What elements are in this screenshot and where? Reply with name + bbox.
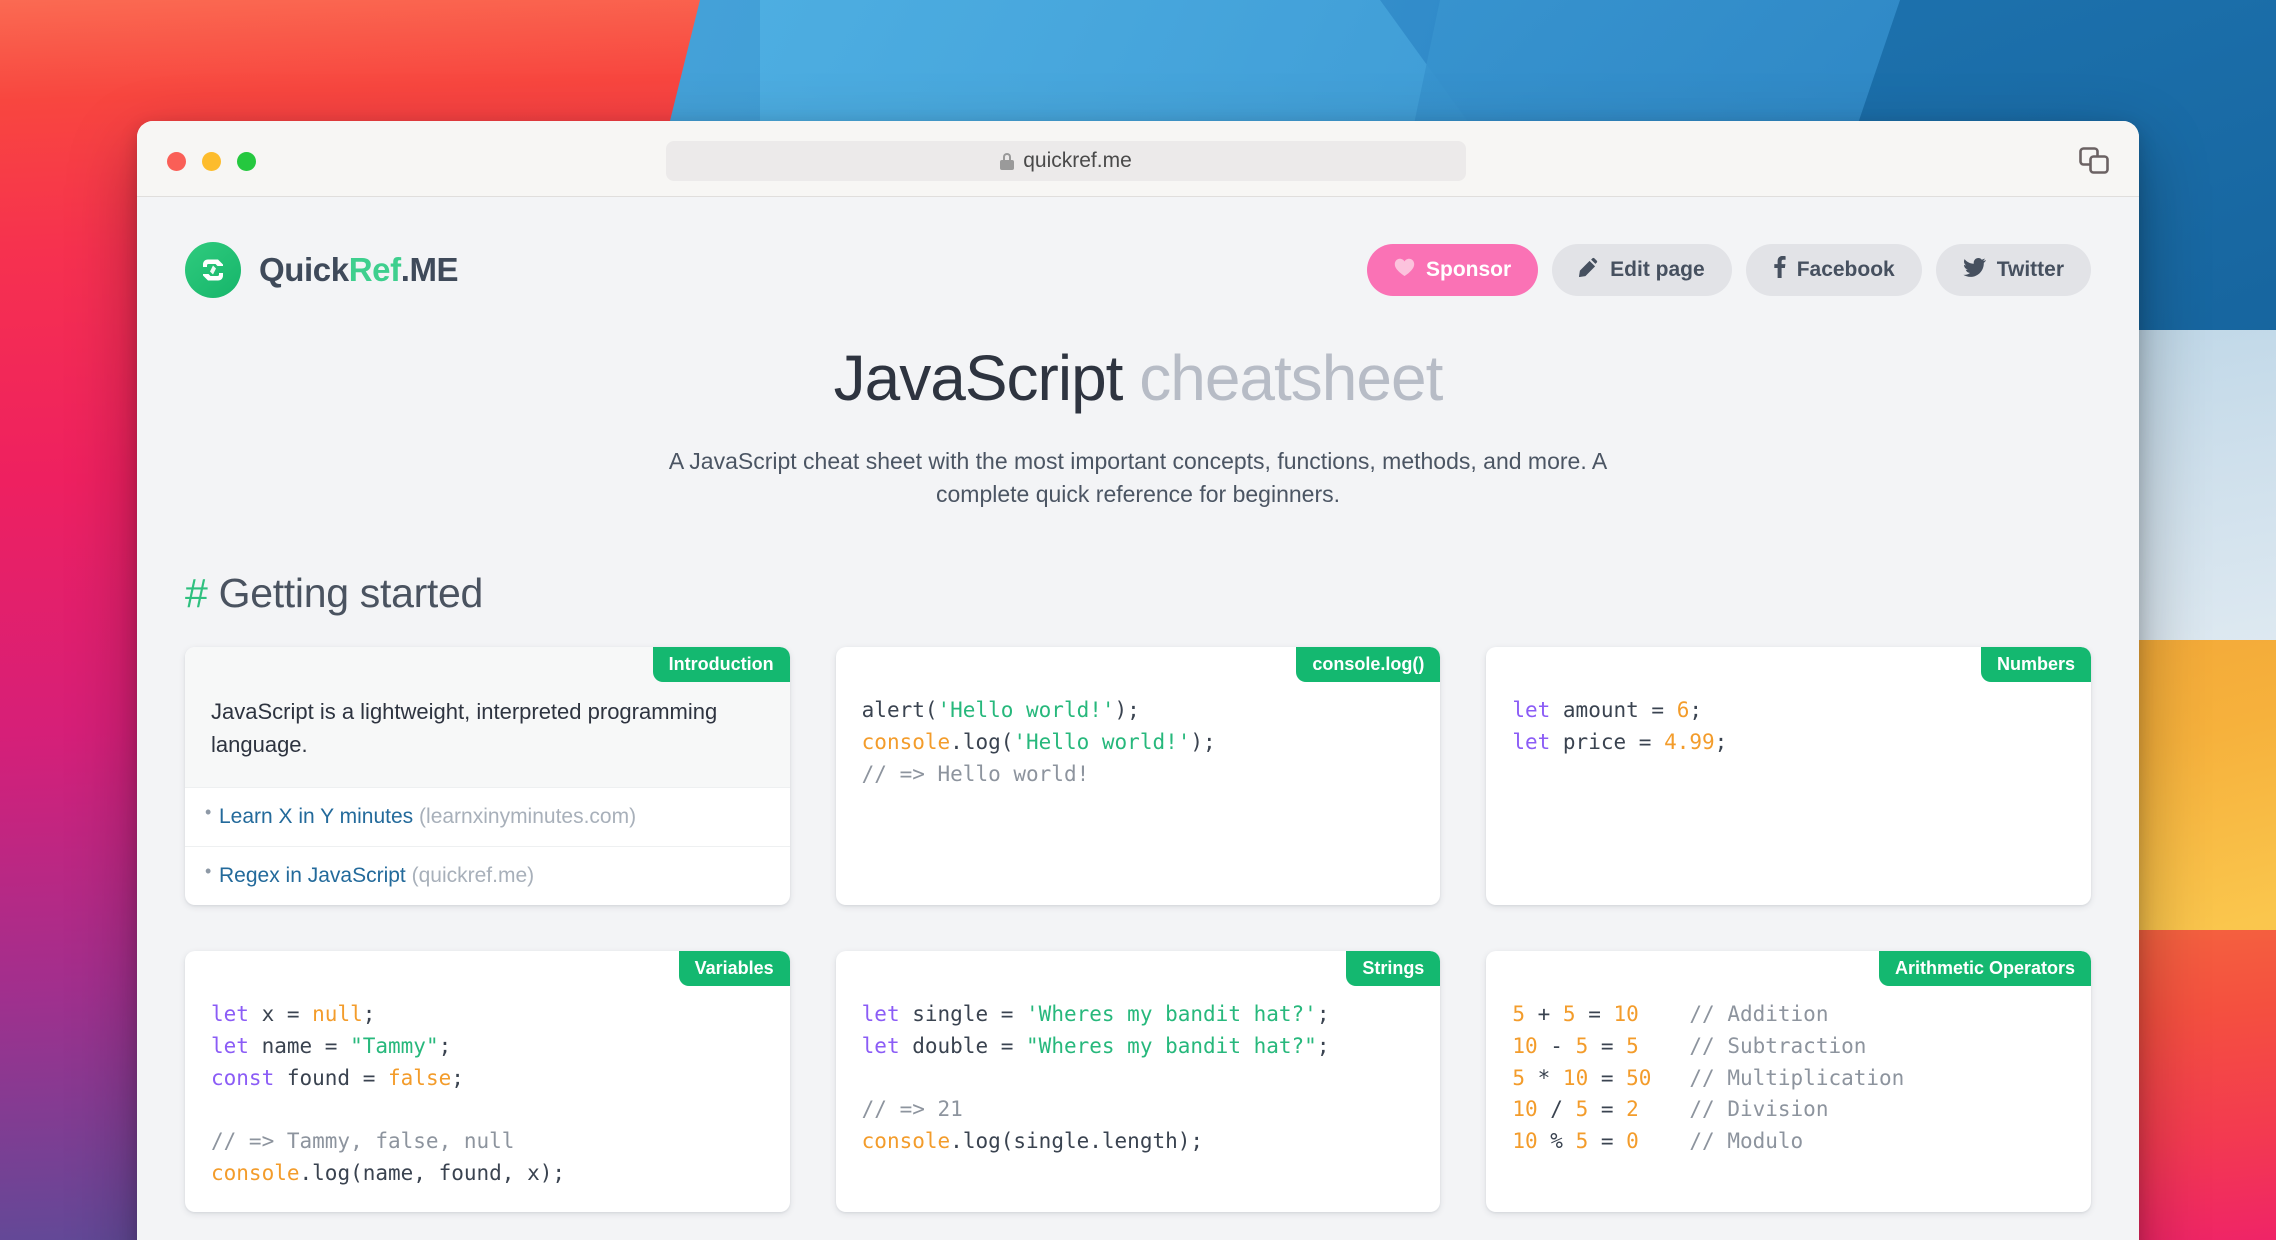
code-line: console.log(name, found, x); <box>211 1161 565 1185</box>
brand-part-quick: Quick <box>259 251 349 288</box>
code-line: alert('Hello world!'); <box>862 698 1140 722</box>
card-badge: console.log() <box>1296 647 1440 682</box>
code-block-arithmetic: 5 + 5 = 10 // Addition 10 - 5 = 5 // Sub… <box>1512 999 2065 1159</box>
twitter-button[interactable]: Twitter <box>1936 244 2091 296</box>
link-learn-x-in-y-minutes[interactable]: Learn X in Y minutes <box>219 805 413 828</box>
facebook-button-label: Facebook <box>1797 258 1895 282</box>
card-arithmetic-operators: Arithmetic Operators 5 + 5 = 10 // Addit… <box>1486 951 2091 1212</box>
hero-section: JavaScript cheatsheet A JavaScript cheat… <box>137 313 2139 512</box>
code-line: 10 / 5 = 2 // Division <box>1512 1097 1828 1121</box>
sponsor-button[interactable]: Sponsor <box>1367 244 1538 296</box>
page-title-muted: cheatsheet <box>1139 342 1442 414</box>
card-introduction: Introduction JavaScript is a lightweight… <box>185 647 790 905</box>
tab-overview-icon[interactable] <box>2079 147 2109 175</box>
facebook-button[interactable]: Facebook <box>1746 244 1922 296</box>
code-line: console.log(single.length); <box>862 1129 1203 1153</box>
site-header: QuickRef.ME Sponsor Edit page <box>137 197 2139 313</box>
code-line: let amount = 6; <box>1512 698 1702 722</box>
section-heading-getting-started: # Getting started <box>185 570 2091 617</box>
card-badge: Variables <box>679 951 790 986</box>
card-console-log: console.log() alert('Hello world!'); con… <box>836 647 1441 905</box>
link-domain: (quickref.me) <box>412 864 535 887</box>
code-line: let single = 'Wheres my bandit hat?'; <box>862 1002 1330 1026</box>
close-button[interactable] <box>167 152 186 171</box>
browser-titlebar: quickref.me <box>137 121 2139 197</box>
link-domain: (learnxinyminutes.com) <box>419 805 636 828</box>
brand-name: QuickRef.ME <box>259 251 458 289</box>
brand-part-me: .ME <box>401 251 458 288</box>
twitter-button-label: Twitter <box>1997 258 2064 282</box>
code-line: let x = null; <box>211 1002 375 1026</box>
card-numbers: Numbers let amount = 6; let price = 4.99… <box>1486 647 2091 905</box>
card-grid-row-2: Variables let x = null; let name = "Tamm… <box>185 951 2091 1212</box>
lock-icon <box>1000 153 1014 170</box>
brand-logo-link[interactable]: QuickRef.ME <box>185 242 458 298</box>
card-grid-row-1: Introduction JavaScript is a lightweight… <box>185 647 2091 905</box>
edit-page-button-label: Edit page <box>1610 258 1705 282</box>
edit-page-button[interactable]: Edit page <box>1552 244 1732 296</box>
facebook-icon <box>1773 256 1786 284</box>
address-bar[interactable]: quickref.me <box>666 141 1466 181</box>
code-block-variables: let x = null; let name = "Tammy"; const … <box>211 999 764 1190</box>
code-block-strings: let single = 'Wheres my bandit hat?'; le… <box>862 999 1415 1159</box>
quickref-logo-icon <box>185 242 241 298</box>
card-body: let x = null; let name = "Tammy"; const … <box>185 951 790 1212</box>
zoom-button[interactable] <box>237 152 256 171</box>
code-line: // => 21 <box>862 1097 963 1121</box>
code-line: let double = "Wheres my bandit hat?"; <box>862 1034 1330 1058</box>
section-heading-label: Getting started <box>219 570 483 616</box>
card-badge: Numbers <box>1981 647 2091 682</box>
code-line: 5 * 10 = 50 // Multiplication <box>1512 1066 1904 1090</box>
code-line: 5 + 5 = 10 // Addition <box>1512 1002 1828 1026</box>
page-title: JavaScript cheatsheet <box>137 341 2139 415</box>
page-description: A JavaScript cheat sheet with the most i… <box>633 445 1643 512</box>
page-content: QuickRef.ME Sponsor Edit page <box>137 197 2139 1240</box>
code-line: console.log('Hello world!'); <box>862 730 1216 754</box>
code-line: 10 % 5 = 0 // Modulo <box>1512 1129 1803 1153</box>
minimize-button[interactable] <box>202 152 221 171</box>
desktop-wallpaper: quickref.me <box>0 0 2276 1240</box>
brand-part-ref: Ref <box>349 251 401 288</box>
code-line: let price = 4.99; <box>1512 730 1727 754</box>
browser-window: quickref.me <box>137 121 2139 1240</box>
card-body: let single = 'Wheres my bandit hat?'; le… <box>836 951 1441 1181</box>
window-controls[interactable] <box>167 152 256 171</box>
url-text: quickref.me <box>1023 149 1132 173</box>
card-badge: Arithmetic Operators <box>1879 951 2091 986</box>
code-line: 10 - 5 = 5 // Subtraction <box>1512 1034 1866 1058</box>
sponsor-button-label: Sponsor <box>1426 258 1511 282</box>
code-block-numbers: let amount = 6; let price = 4.99; <box>1512 695 2065 823</box>
heart-icon <box>1394 258 1415 283</box>
card-strings: Strings let single = 'Wheres my bandit h… <box>836 951 1441 1212</box>
page-title-main: JavaScript <box>834 342 1123 414</box>
code-block-console-log: alert('Hello world!'); console.log('Hell… <box>862 695 1415 823</box>
code-line: // => Tammy, false, null <box>211 1129 514 1153</box>
code-line: // => Hello world! <box>862 762 1090 786</box>
code-line: let name = "Tammy"; <box>211 1034 451 1058</box>
card-variables: Variables let x = null; let name = "Tamm… <box>185 951 790 1212</box>
hash-marker: # <box>185 570 208 616</box>
list-item[interactable]: Regex in JavaScript (quickref.me) <box>185 846 790 905</box>
main-content: # Getting started Introduction JavaScrip… <box>137 570 2139 1212</box>
link-regex-in-javascript[interactable]: Regex in JavaScript <box>219 864 406 887</box>
code-line: const found = false; <box>211 1066 464 1090</box>
site-nav: Sponsor Edit page Facebook <box>1367 244 2091 296</box>
card-badge: Introduction <box>653 647 790 682</box>
card-badge: Strings <box>1346 951 1440 986</box>
pencil-icon <box>1579 257 1599 283</box>
introduction-links: Learn X in Y minutes (learnxinyminutes.c… <box>185 787 790 905</box>
twitter-icon <box>1963 258 1986 283</box>
list-item[interactable]: Learn X in Y minutes (learnxinyminutes.c… <box>185 787 790 846</box>
